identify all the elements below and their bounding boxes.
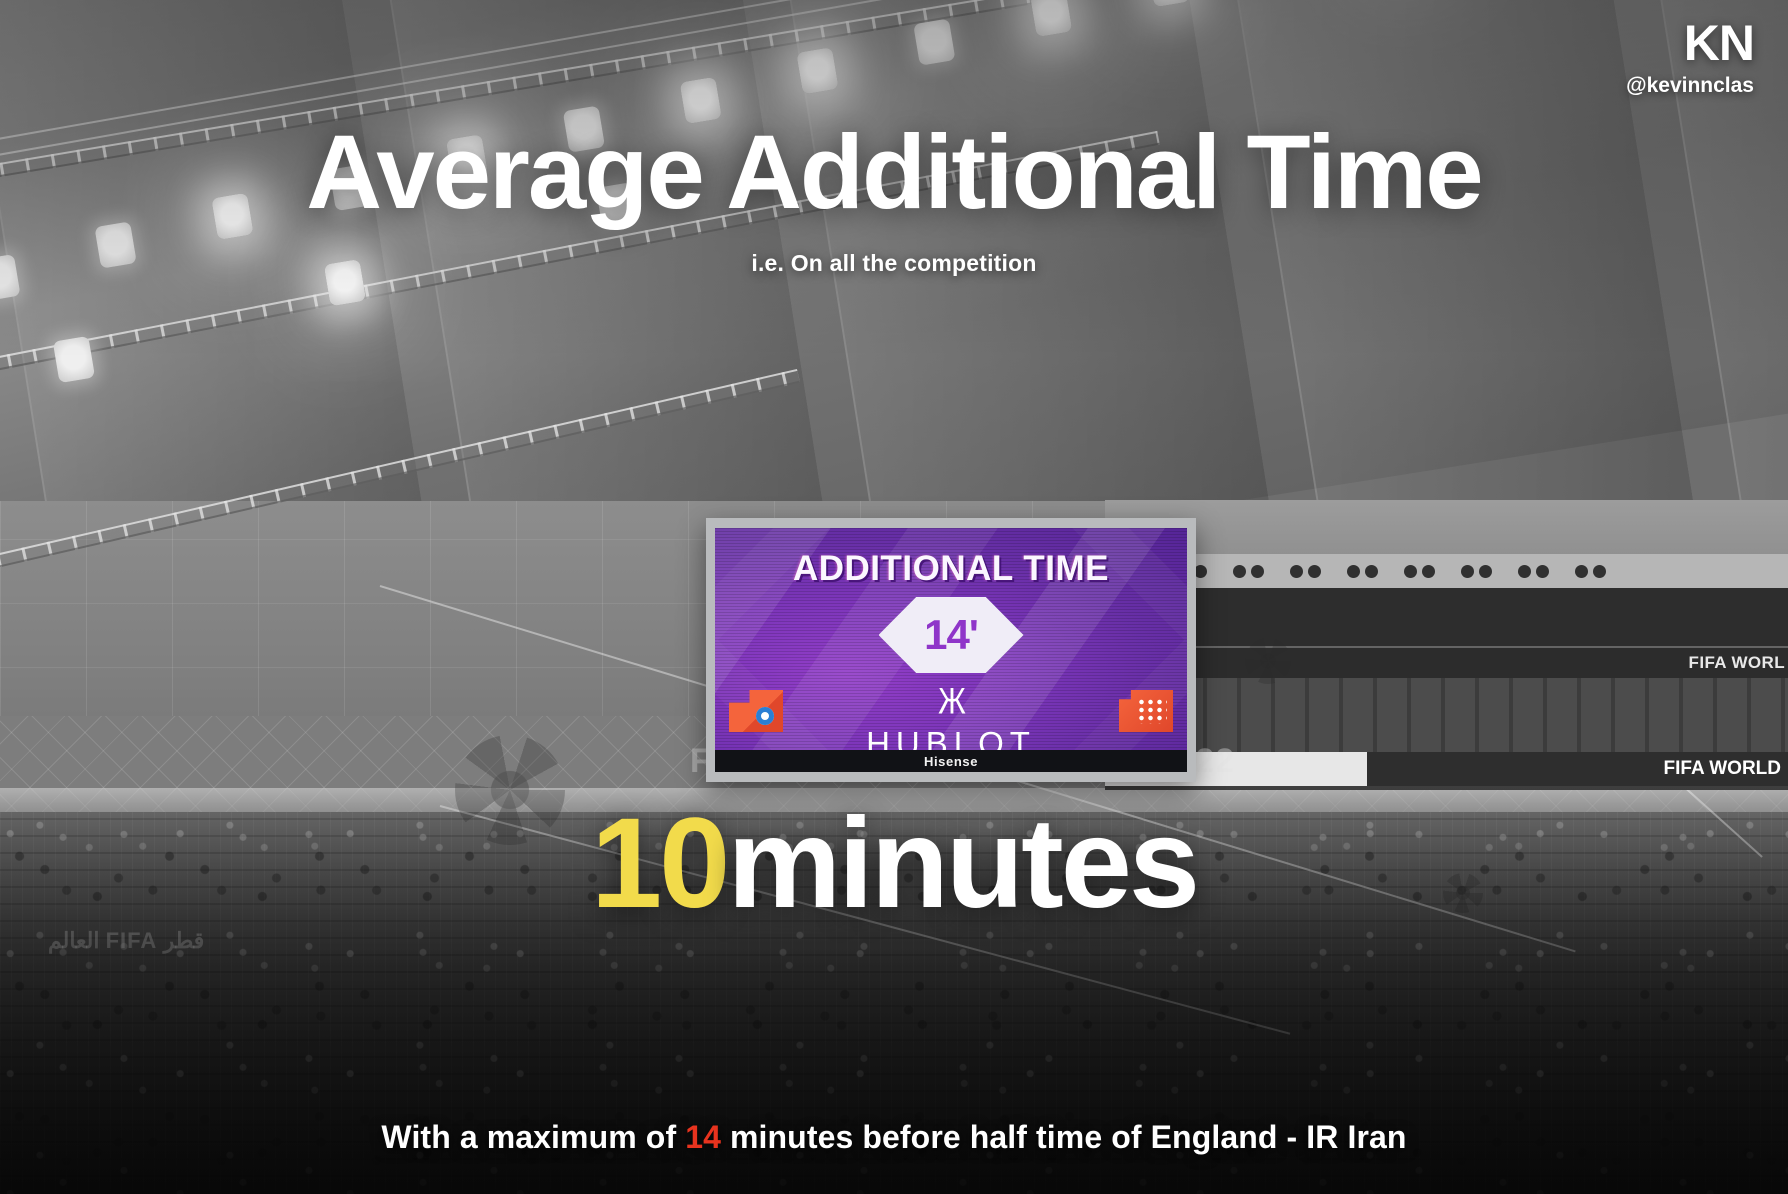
scoreboard-footer-brand: Hisense [715, 750, 1187, 772]
infographic-canvas: FIFA WORL FIFA WORLD FIFA WORLD CUP ® Qa… [0, 0, 1788, 1194]
caption-max-value: 14 [685, 1119, 721, 1155]
brand-handle: @kevinnclas [1626, 74, 1754, 98]
scoreboard-screen: ADDITIONAL TIME 14' Ж HUBLOT Hisense [715, 528, 1187, 772]
hublot-mark-icon: Ж [938, 683, 964, 721]
primary-stat: 10minutes [0, 800, 1788, 928]
fifa-ball-icon [1245, 638, 1291, 684]
footer-caption: With a maximum of 14 minutes before half… [0, 1119, 1788, 1156]
stadium-scoreboard: ADDITIONAL TIME 14' Ж HUBLOT Hisense [706, 518, 1196, 782]
caption-suffix: minutes before half time of England - IR… [721, 1119, 1407, 1155]
press-box-banner: FIFA WORL [1105, 648, 1788, 678]
primary-stat-unit: minutes [727, 792, 1197, 935]
press-box-speaker-row [1105, 554, 1788, 588]
tournament-graphic-left-icon [729, 690, 783, 732]
page-title: Average Additional Time [0, 120, 1788, 225]
scoreboard-time-value: 14' [924, 611, 978, 659]
brand-logo-text: KN [1626, 18, 1754, 68]
press-box-glass [1105, 588, 1788, 646]
scoreboard-title: ADDITIONAL TIME [793, 549, 1109, 589]
press-box-seating [1105, 678, 1788, 752]
page-subtitle: i.e. On all the competition [0, 250, 1788, 277]
caption-prefix: With a maximum of [381, 1119, 685, 1155]
brand-logo: KN @kevinnclas [1626, 18, 1754, 98]
primary-stat-number: 10 [591, 792, 727, 935]
